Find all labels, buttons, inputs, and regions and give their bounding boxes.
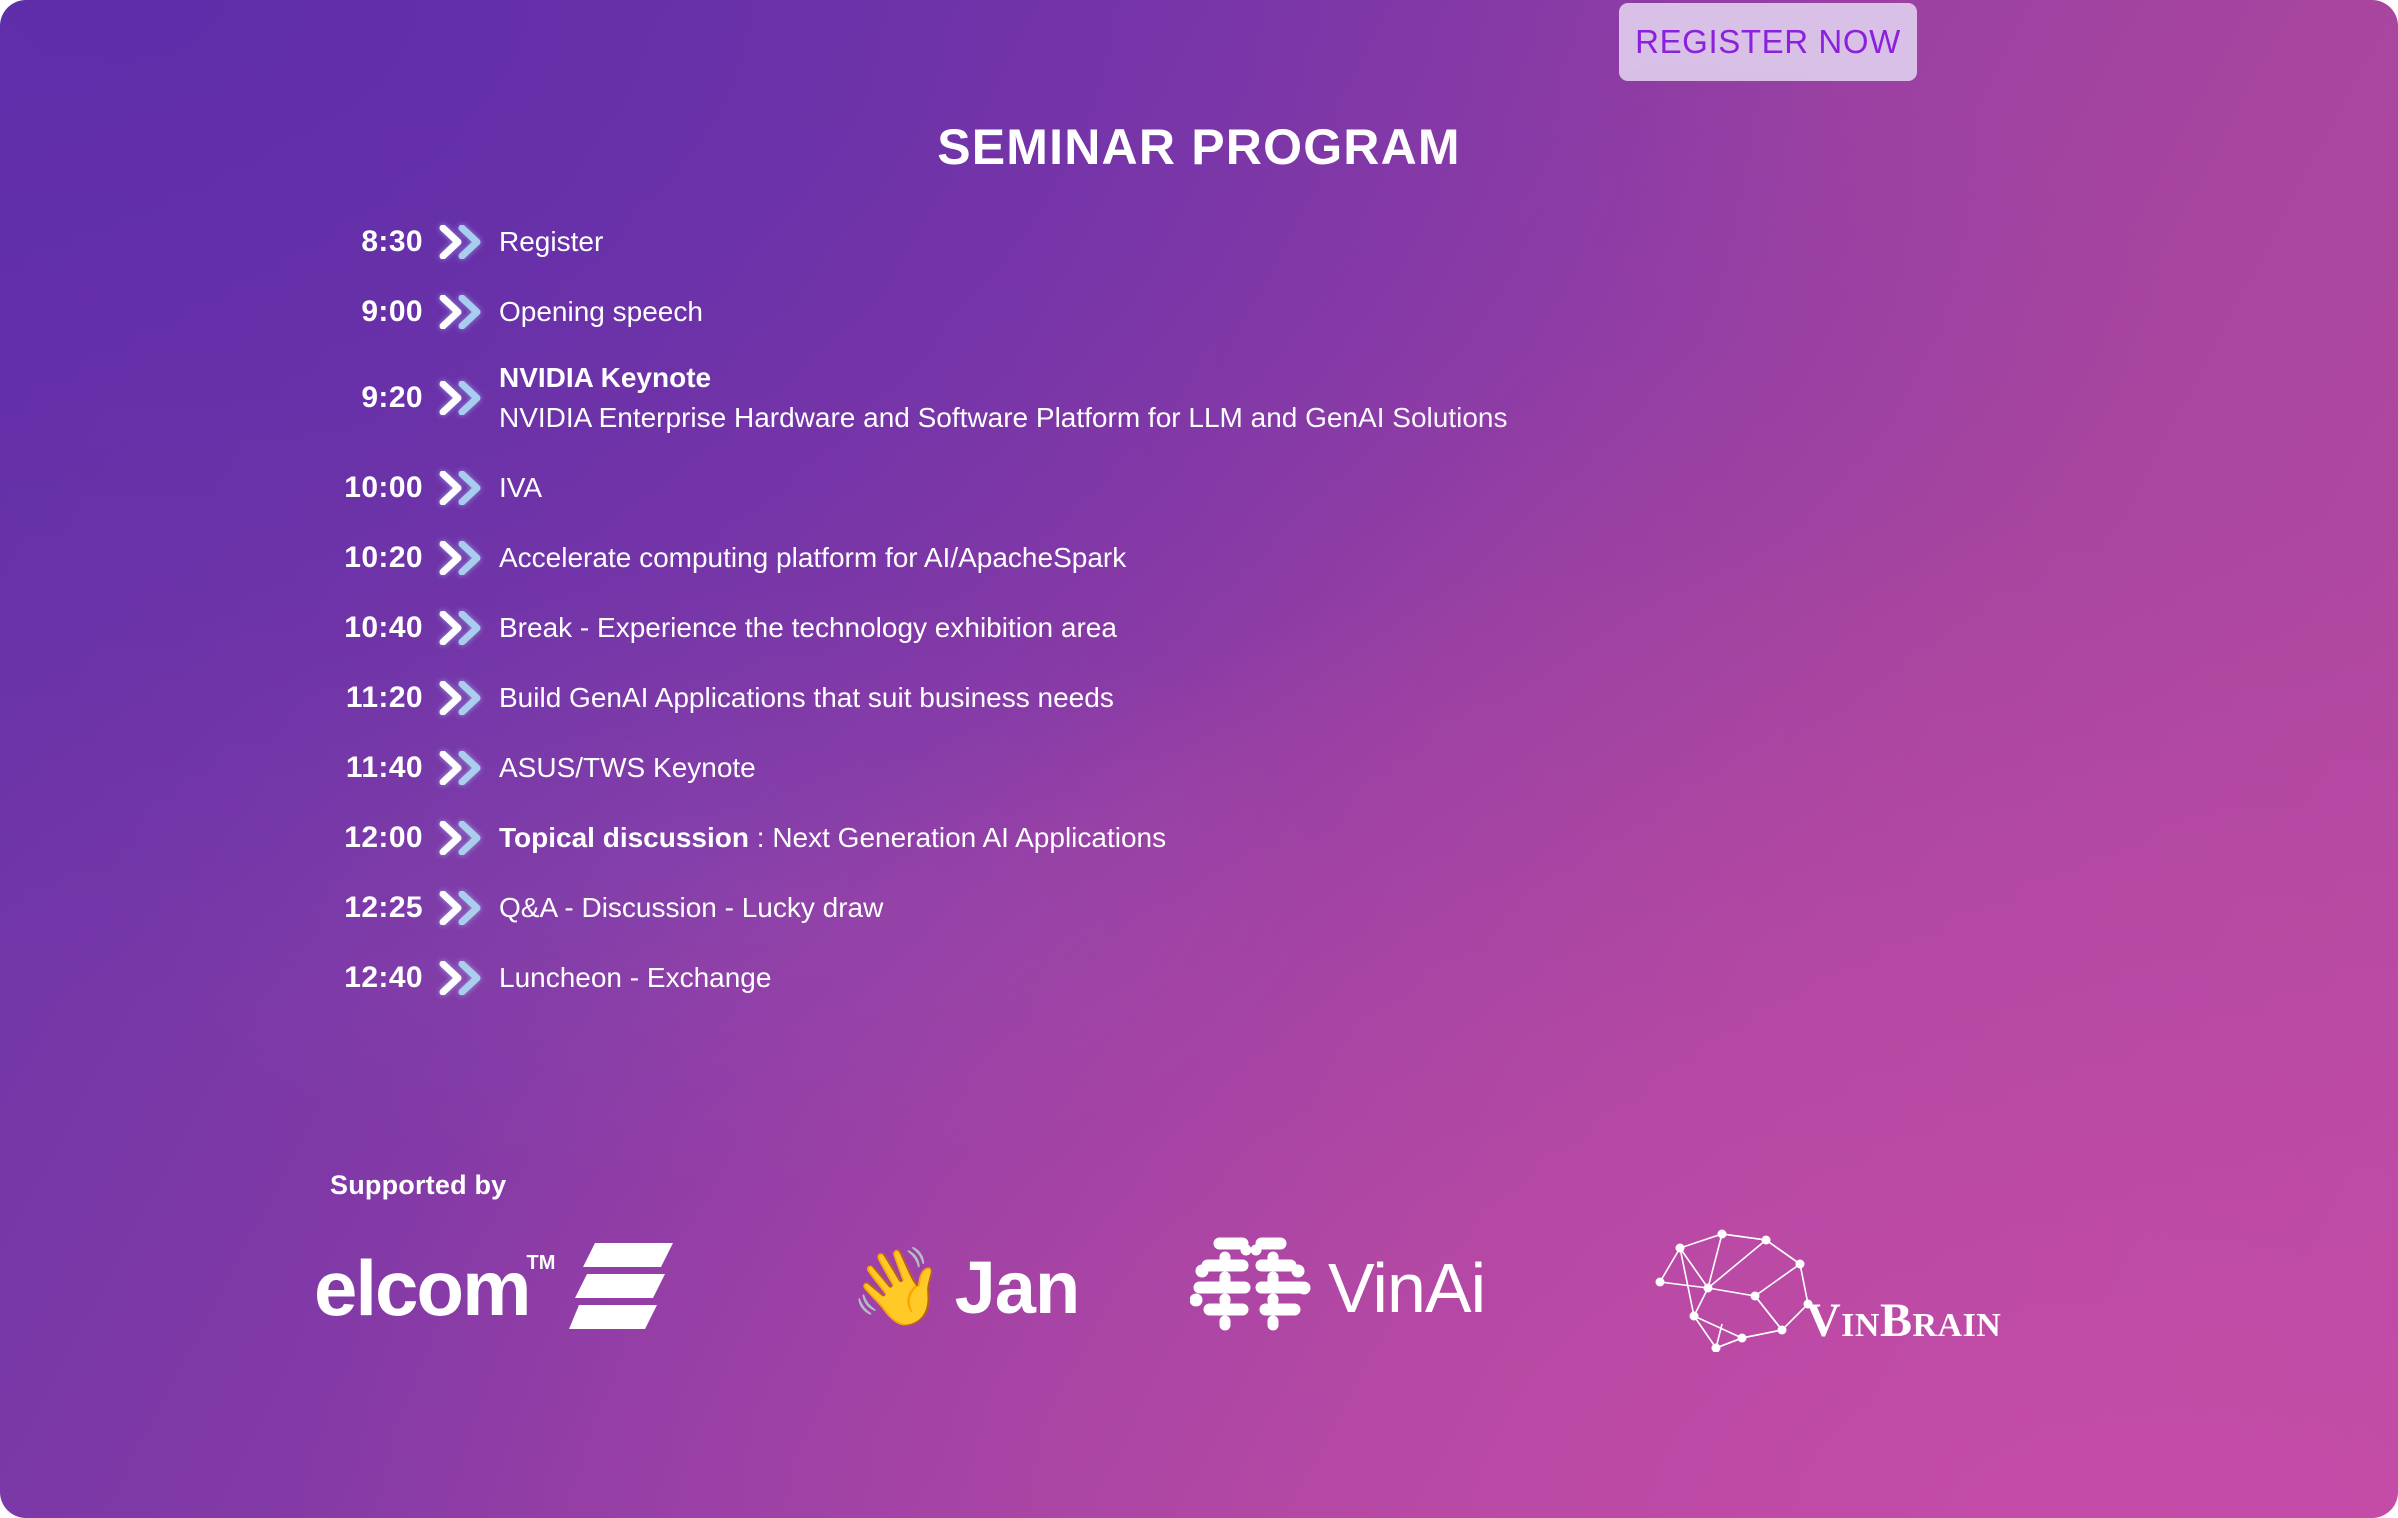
page-title: SEMINAR PROGRAM [0,118,2398,176]
agenda-row-time: 10:40 [318,611,423,645]
sponsor-logo-elcom: elcom TM [300,1223,730,1353]
agenda-row: 12:40Luncheon - Exchange [318,954,2018,1002]
agenda-row-text: Break - Experience the technology exhibi… [499,612,1117,643]
double-chevron-right-icon [423,961,499,995]
vinbrain-wordmark: VinBrain [1806,1297,2001,1353]
agenda-row-body: Break - Experience the technology exhibi… [499,608,2018,648]
waving-hand-icon: 👋 [850,1250,945,1326]
agenda-row: 9:20NVIDIA KeynoteNVIDIA Enterprise Hard… [318,358,2018,438]
agenda-row-time: 11:20 [318,681,423,715]
agenda-row-body: ASUS/TWS Keynote [499,748,2018,788]
agenda-row-text: ASUS/TWS Keynote [499,752,756,783]
register-now-button[interactable]: REGISTER NOW [1619,3,1917,81]
agenda-row-body: Q&A - Discussion - Lucky draw [499,888,2018,928]
agenda-row-time: 9:00 [318,295,423,329]
double-chevron-right-icon [423,821,499,855]
agenda-row-title: NVIDIA Keynote [499,358,2018,398]
agenda-row-body: Build GenAI Applications that suit busin… [499,678,2018,718]
seminar-program-page: REGISTER NOW SEMINAR PROGRAM 8:30Registe… [0,0,2398,1518]
agenda-row-time: 10:00 [318,471,423,505]
agenda-row-body: NVIDIA KeynoteNVIDIA Enterprise Hardware… [499,358,2018,438]
double-chevron-right-icon [423,225,499,259]
agenda-list: 8:30Register9:00Opening speech9:20NVIDIA… [318,218,2018,1024]
agenda-row: 12:25Q&A - Discussion - Lucky draw [318,884,2018,932]
vinai-network-mark-icon [1190,1230,1312,1347]
double-chevron-right-icon [423,891,499,925]
agenda-row: 9:00Opening speech [318,288,2018,336]
agenda-row-body: IVA [499,468,2018,508]
agenda-row-time: 12:00 [318,821,423,855]
agenda-row-lead: Topical discussion [499,822,749,853]
agenda-row-text: Build GenAI Applications that suit busin… [499,682,1114,713]
agenda-row-time: 12:40 [318,961,423,995]
agenda-row-body: Topical discussion : Next Generation AI … [499,818,2018,858]
sponsor-logo-vinbrain: VinBrain [1630,1223,2100,1353]
elcom-e-mark-icon [569,1243,673,1334]
agenda-row: 10:40Break - Experience the technology e… [318,604,2018,652]
elcom-wordmark: elcom TM [314,1249,529,1327]
double-chevron-right-icon [423,751,499,785]
agenda-row-time: 8:30 [318,225,423,259]
agenda-row-body: Register [499,222,2018,262]
agenda-row-body: Luncheon - Exchange [499,958,2018,998]
double-chevron-right-icon [423,295,499,329]
agenda-row-text: : Next Generation AI Applications [749,822,1166,853]
agenda-row: 8:30Register [318,218,2018,266]
agenda-row-time: 11:40 [318,751,423,785]
sponsor-logo-jan: 👋 Jan [730,1223,1150,1353]
double-chevron-right-icon [423,541,499,575]
agenda-row: 10:00IVA [318,464,2018,512]
agenda-row-time: 12:25 [318,891,423,925]
agenda-row: 12:00Topical discussion : Next Generatio… [318,814,2018,862]
double-chevron-right-icon [423,471,499,505]
double-chevron-right-icon [423,611,499,645]
agenda-row: 10:20Accelerate computing platform for A… [318,534,2018,582]
agenda-row-text: IVA [499,472,542,503]
double-chevron-right-icon [423,381,499,415]
trademark-icon: TM [527,1253,556,1273]
double-chevron-right-icon [423,681,499,715]
agenda-row-text: Opening speech [499,296,703,327]
sponsor-logo-vinai: VinAi [1150,1223,1630,1353]
sponsor-logo-row: elcom TM 👋 Jan [300,1218,2180,1358]
agenda-row: 11:20Build GenAI Applications that suit … [318,674,2018,722]
vinai-wordmark: VinAi [1328,1253,1485,1323]
agenda-row-subtitle: NVIDIA Enterprise Hardware and Software … [499,398,2018,438]
agenda-row: 11:40ASUS/TWS Keynote [318,744,2018,792]
agenda-row-text: Register [499,226,603,257]
agenda-row-body: Accelerate computing platform for AI/Apa… [499,538,2018,578]
agenda-row-time: 9:20 [318,381,423,415]
agenda-row-text: Q&A - Discussion - Lucky draw [499,892,883,923]
agenda-row-text: Luncheon - Exchange [499,962,771,993]
agenda-row-text: Accelerate computing platform for AI/Apa… [499,542,1126,573]
agenda-row-body: Opening speech [499,292,2018,332]
supported-by-label: Supported by [330,1170,506,1201]
jan-wordmark: Jan [955,1251,1080,1325]
agenda-row-time: 10:20 [318,541,423,575]
